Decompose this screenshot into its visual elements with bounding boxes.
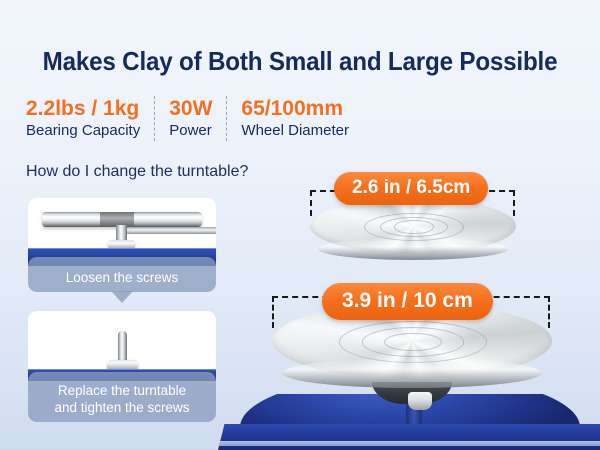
step-photo-screw-tighten — [28, 311, 216, 381]
badge-large-wheel-size: 3.9 in / 10 cm — [322, 283, 493, 320]
spec-label: Bearing Capacity — [26, 121, 140, 141]
spec-item-power: 30W Power — [154, 96, 226, 141]
shaft-rod — [124, 227, 216, 234]
spec-value: 65/100mm — [241, 96, 349, 121]
wheel-rim-highlight — [318, 238, 508, 260]
product-infographic: Makes Clay of Both Small and Large Possi… — [0, 0, 600, 450]
screw-shaft — [118, 331, 127, 363]
wheel-groove — [394, 220, 433, 233]
step-caption-text-line2: and tighten the screws — [32, 399, 212, 416]
wheel-rim-highlight — [282, 358, 542, 388]
step-panel-replace-turntable: Replace the turntable and tighten the sc… — [28, 311, 216, 422]
spindle — [116, 225, 127, 241]
wheel-groove — [384, 333, 442, 352]
spec-item-wheel-diameter: 65/100mm Wheel Diameter — [226, 96, 363, 141]
machine-base-platform — [218, 424, 600, 450]
step-caption: Replace the turntable and tighten the sc… — [28, 372, 216, 422]
page-title: Makes Clay of Both Small and Large Possi… — [21, 46, 579, 77]
step-caption: Loosen the screws — [28, 257, 216, 292]
spec-value: 2.2lbs / 1kg — [26, 96, 140, 121]
turntable-wheel-small — [310, 198, 516, 270]
caption-arrow-down-icon — [111, 291, 133, 303]
spec-label: Power — [169, 121, 212, 141]
step-caption-text: Loosen the screws — [66, 270, 179, 285]
machine-base-edge-highlight — [218, 441, 600, 446]
step-caption-text-line1: Replace the turntable — [32, 382, 212, 399]
spec-row: 2.2lbs / 1kg Bearing Capacity 30W Power … — [22, 96, 363, 141]
question-heading: How do I change the turntable? — [26, 163, 248, 181]
spec-value: 30W — [169, 96, 212, 121]
spec-label: Wheel Diameter — [241, 121, 349, 141]
step-photo-turntable-removal — [28, 198, 216, 266]
badge-small-wheel-size: 2.6 in / 6.5cm — [334, 172, 488, 205]
step-panel-loosen-screws: Loosen the screws — [28, 198, 216, 292]
spec-item-bearing-capacity: 2.2lbs / 1kg Bearing Capacity — [22, 96, 154, 141]
